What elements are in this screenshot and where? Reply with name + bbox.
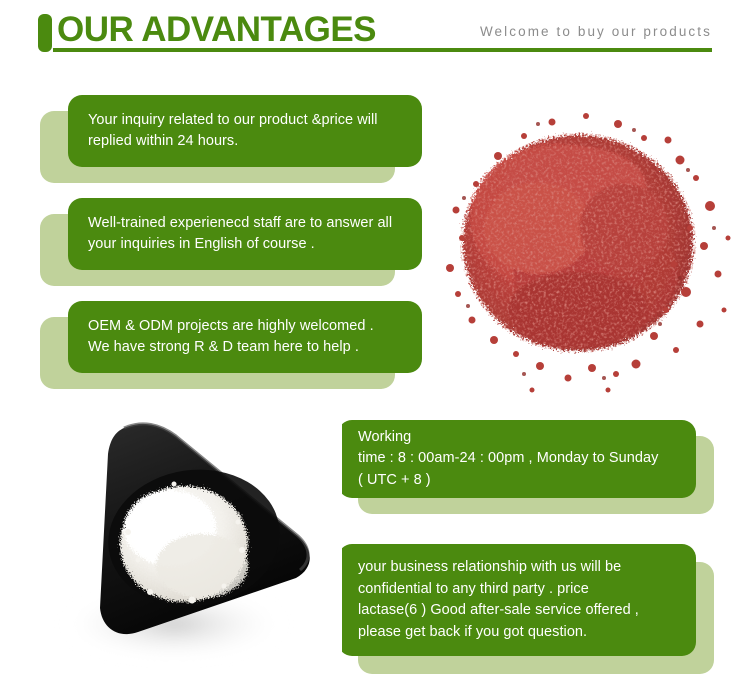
card-text: Working time : 8 : 00am-24 : 00pm , Mond… [338,427,674,492]
header-divider-rule [53,48,712,52]
title-accent-bar [38,14,52,52]
page-title: OUR ADVANTAGES [57,9,376,51]
card-body: OEM & ODM projects are highly welcomed .… [68,301,422,373]
advantage-card-confidentiality: your business relationship with us will … [338,544,714,674]
white-powder-bowl-photo [42,410,342,675]
card-text: Well-trained experienecd staff are to an… [68,213,408,256]
red-powder-illustration [428,78,750,408]
advantage-card-inquiry-response: Your inquiry related to our product &pri… [40,95,422,183]
advantage-card-working-time: Working time : 8 : 00am-24 : 00pm , Mond… [338,420,714,514]
card-text: Your inquiry related to our product &pri… [68,110,394,153]
card-body: Working time : 8 : 00am-24 : 00pm , Mond… [338,420,696,498]
card-body: Well-trained experienecd staff are to an… [68,198,422,270]
card-body: Your inquiry related to our product &pri… [68,95,422,167]
card-text: your business relationship with us will … [338,557,655,643]
white-powder-bowl-illustration [42,410,342,675]
page-header: OUR ADVANTAGES Welcome to buy our produc… [0,0,750,78]
card-body: your business relationship with us will … [338,544,696,656]
card-text: OEM & ODM projects are highly welcomed .… [68,316,390,359]
advantage-card-staff: Well-trained experienecd staff are to an… [40,198,422,286]
advantage-card-oem-odm: OEM & ODM projects are highly welcomed .… [40,301,422,389]
red-powder-photo [428,78,750,408]
header-tagline: Welcome to buy our products [480,24,712,39]
